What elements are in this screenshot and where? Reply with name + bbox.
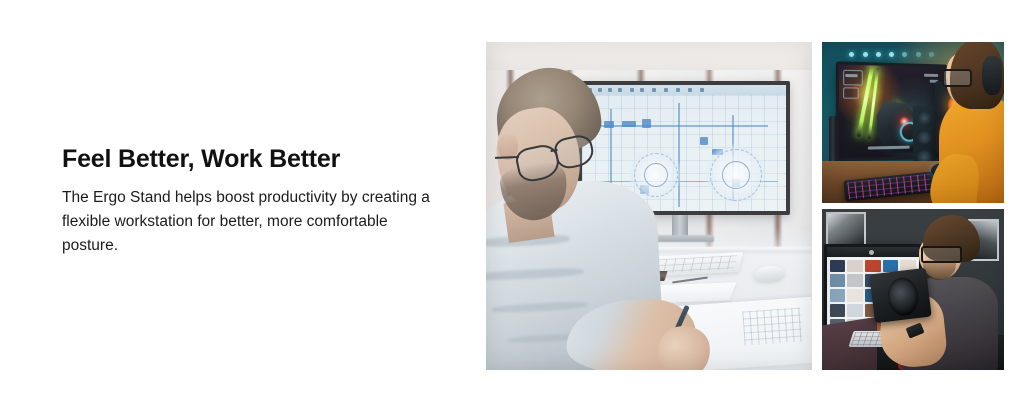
camera-lens — [886, 276, 920, 317]
promo-banner: Feel Better, Work Better The Ergo Stand … — [0, 0, 1025, 420]
image-photographer-desk — [822, 209, 1004, 370]
photo-thumbnail — [847, 260, 863, 273]
photo-thumbnail — [847, 274, 863, 287]
gamer-arm — [928, 151, 982, 203]
office-person — [486, 64, 686, 370]
photo-thumbnail — [830, 289, 846, 302]
gamer-glasses — [942, 69, 972, 87]
image-collage — [486, 42, 1004, 370]
gamer-headset — [982, 56, 1002, 94]
photographer-person — [898, 215, 1000, 370]
wall-art-left — [826, 212, 866, 247]
photo-thumbnail — [865, 260, 881, 273]
gaming-scene — [822, 42, 1004, 203]
photo-thumbnail — [830, 274, 846, 287]
office-scene — [486, 42, 812, 370]
page-title: Feel Better, Work Better — [62, 144, 452, 174]
gaming-led-strip — [847, 52, 942, 60]
photo-thumbnail — [830, 304, 846, 317]
copy-block: Feel Better, Work Better The Ergo Stand … — [62, 144, 452, 258]
photo-thumbnail — [830, 260, 846, 273]
photographer-scene — [822, 209, 1004, 370]
photo-thumbnail — [847, 289, 863, 302]
dslr-camera — [869, 268, 932, 324]
photographer-glasses — [921, 246, 962, 262]
image-gaming-setup — [822, 42, 1004, 203]
gaming-person — [931, 42, 1004, 203]
image-main-office — [486, 42, 812, 370]
photo-thumbnail — [847, 304, 863, 317]
body-text: The Ergo Stand helps boost productivity … — [62, 186, 434, 258]
